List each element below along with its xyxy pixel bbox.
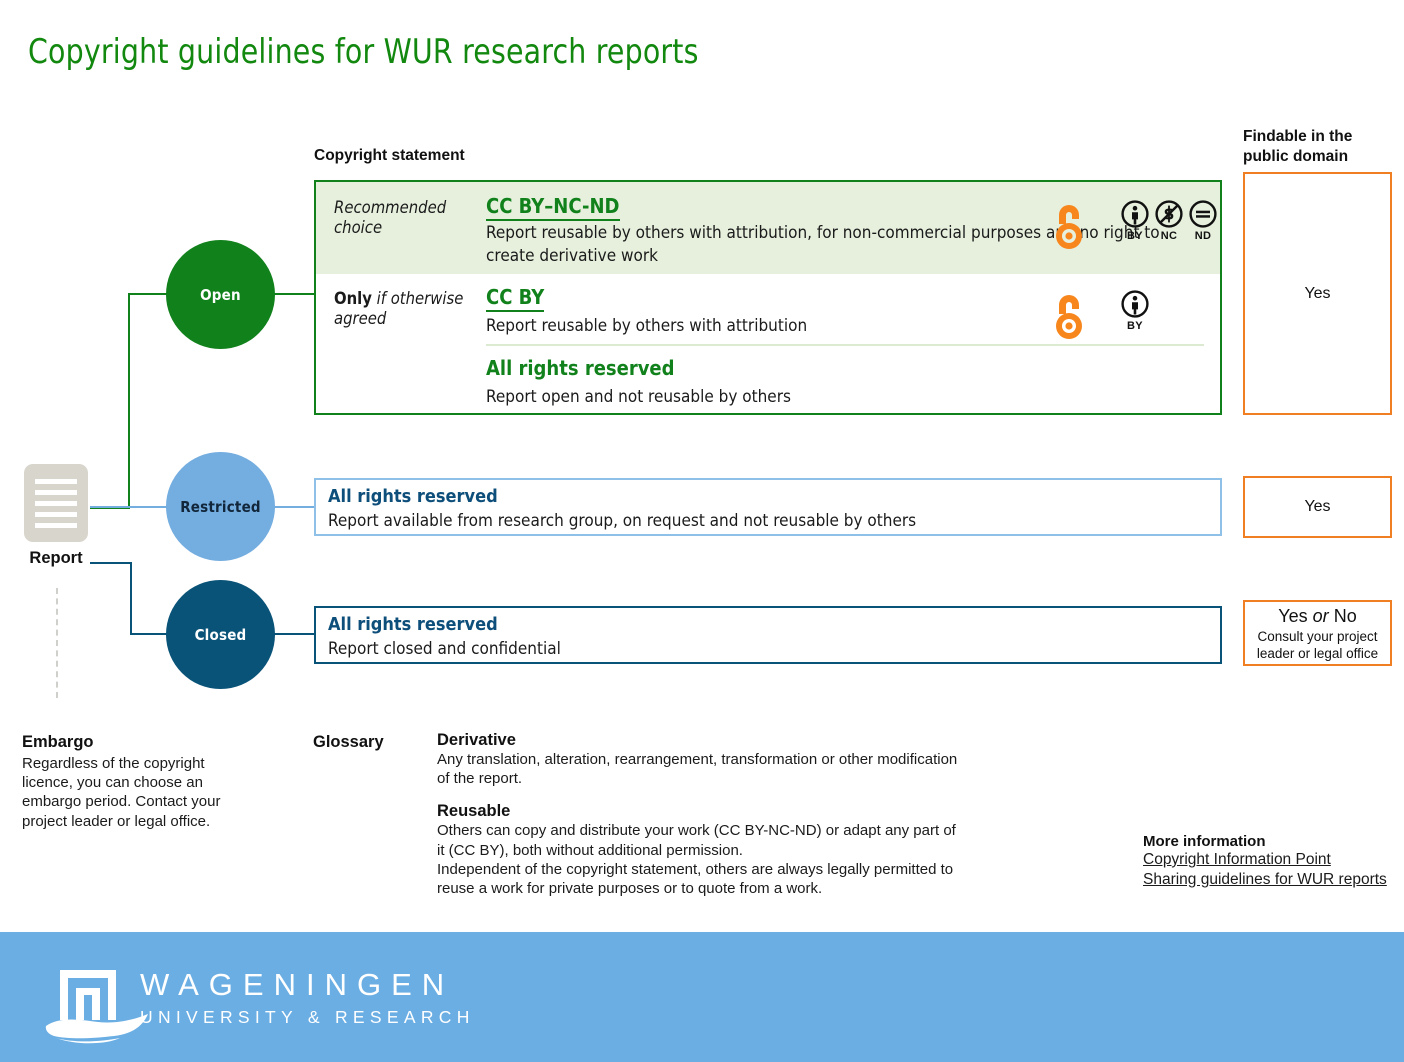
infographic-page: Copyright guidelines for WUR research re…	[0, 0, 1404, 1062]
link-copyright-information-point[interactable]: Copyright Information Point	[1143, 851, 1393, 870]
license-cc-by-nc-nd-description: Report reusable by others with attributi…	[486, 222, 1206, 267]
license-all-rights-reserved-title: All rights reserved	[486, 356, 675, 380]
report-node: Report	[24, 464, 88, 568]
copyright-statement-heading: Copyright statement	[314, 147, 465, 165]
connector-restricted-to-box	[272, 506, 316, 508]
node-closed[interactable]: Closed	[166, 580, 275, 689]
glossary-heading: Glossary	[313, 733, 384, 752]
glossary-term-reusable: Reusable Others can copy and distribute …	[437, 802, 967, 898]
findable-closed-pre: Yes	[1278, 606, 1312, 626]
cc-by-badge: BY	[1121, 200, 1149, 242]
connector-open-vertical	[128, 294, 130, 509]
link-sharing-guidelines[interactable]: Sharing guidelines for WUR reports	[1143, 871, 1393, 890]
license-cc-by-title[interactable]: CC BY	[486, 285, 544, 312]
more-information-heading: More information	[1143, 833, 1393, 850]
connector-open-to-panel	[272, 293, 316, 295]
restricted-statement-box: All rights reserved Report available fro…	[314, 478, 1222, 536]
glossary-term-derivative: Derivative Any translation, alteration, …	[437, 731, 967, 788]
embargo-block: Embargo Regardless of the copyright lice…	[22, 733, 247, 831]
glossary-term-derivative-title: Derivative	[437, 731, 967, 750]
findable-in-public-domain-heading: Findable in thepublic domain	[1243, 127, 1403, 167]
node-restricted-label: Restricted	[180, 498, 261, 516]
closed-statement-description: Report closed and confidential	[328, 639, 561, 659]
node-closed-label: Closed	[195, 626, 247, 644]
cc-by-icon	[1121, 200, 1149, 228]
page-title: Copyright guidelines for WUR research re…	[28, 32, 699, 72]
cc-nc-badge: S NC	[1155, 200, 1183, 242]
cc-nd-badge: ND	[1189, 200, 1217, 242]
cc-by-code: BY	[1127, 230, 1143, 242]
cc-nc-code: NC	[1161, 230, 1178, 242]
node-restricted[interactable]: Restricted	[166, 452, 275, 561]
glossary-term-reusable-title: Reusable	[437, 802, 967, 821]
findable-closed-box: Yes or No Consult your projectleader or …	[1243, 600, 1392, 666]
findable-closed-post: No	[1329, 606, 1357, 626]
connector-closed-to-box	[272, 633, 316, 635]
cc-by-icon	[1121, 290, 1149, 318]
license-all-rights-reserved-description: Report open and not reusable by others	[486, 386, 1206, 409]
cc-nd-icon	[1189, 200, 1217, 228]
findable-open-value: Yes	[1304, 285, 1330, 303]
cc-nd-code: ND	[1195, 230, 1212, 242]
panel-separator	[486, 344, 1204, 346]
cc-badges-by-nc-nd: BY S NC ND	[1121, 200, 1217, 242]
findable-closed-or: or	[1313, 606, 1329, 626]
cc-nc-icon: S	[1155, 200, 1183, 228]
open-access-lock-icon	[1051, 200, 1087, 250]
condition-only-if-agreed: Only if otherwise agreed	[334, 289, 484, 329]
node-open-label: Open	[200, 286, 241, 304]
node-open[interactable]: Open	[166, 240, 275, 349]
open-access-lock-icon	[1051, 290, 1087, 340]
wur-name: WAGENINGEN	[140, 969, 475, 1000]
open-statements-panel: Recommended choice Only if otherwise agr…	[314, 180, 1222, 415]
embargo-body: Regardless of the copyright licence, you…	[22, 754, 247, 831]
findable-closed-value: Yes or No	[1278, 606, 1356, 627]
glossary-term-derivative-definition: Any translation, alteration, rearrangeme…	[437, 750, 967, 788]
connector-closed-horizontal-1	[90, 562, 132, 564]
cc-badges-by: BY	[1121, 290, 1149, 332]
restricted-statement-description: Report available from research group, on…	[328, 511, 916, 531]
license-cc-by-description: Report reusable by others with attributi…	[486, 315, 1206, 338]
condition-recommended: Recommended choice	[334, 198, 484, 238]
closed-statement-box: All rights reserved Report closed and co…	[314, 606, 1222, 664]
embargo-dashed-line	[56, 588, 58, 698]
license-cc-by-nc-nd-title[interactable]: CC BY–NC-ND	[486, 194, 620, 221]
footer-bar: WAGENINGEN UNIVERSITY & RESEARCH	[0, 932, 1404, 1062]
wur-subtitle: UNIVERSITY & RESEARCH	[140, 1009, 475, 1027]
findable-closed-note: Consult your projectleader or legal offi…	[1257, 629, 1378, 663]
glossary-term-reusable-definition: Others can copy and distribute your work…	[437, 821, 967, 898]
cc-by-code: BY	[1127, 320, 1143, 332]
glossary-terms: Derivative Any translation, alteration, …	[437, 731, 967, 898]
document-icon	[24, 464, 88, 542]
embargo-heading: Embargo	[22, 733, 247, 752]
findable-open-box: Yes	[1243, 172, 1392, 415]
condition-only-bold: Only	[334, 289, 372, 308]
restricted-statement-title: All rights reserved	[328, 486, 498, 507]
more-information-block: More information Copyright Information P…	[1143, 833, 1393, 889]
connector-restricted-horizontal	[90, 506, 175, 508]
condition-recommended-text: Recommended choice	[334, 198, 446, 237]
findable-restricted-box: Yes	[1243, 476, 1392, 538]
cc-by-badge: BY	[1121, 290, 1149, 332]
closed-statement-title: All rights reserved	[328, 614, 498, 635]
findable-restricted-value: Yes	[1304, 498, 1330, 516]
wur-wordmark: WAGENINGEN UNIVERSITY & RESEARCH	[140, 969, 475, 1027]
report-label: Report	[24, 549, 88, 568]
connector-closed-vertical	[130, 562, 132, 635]
